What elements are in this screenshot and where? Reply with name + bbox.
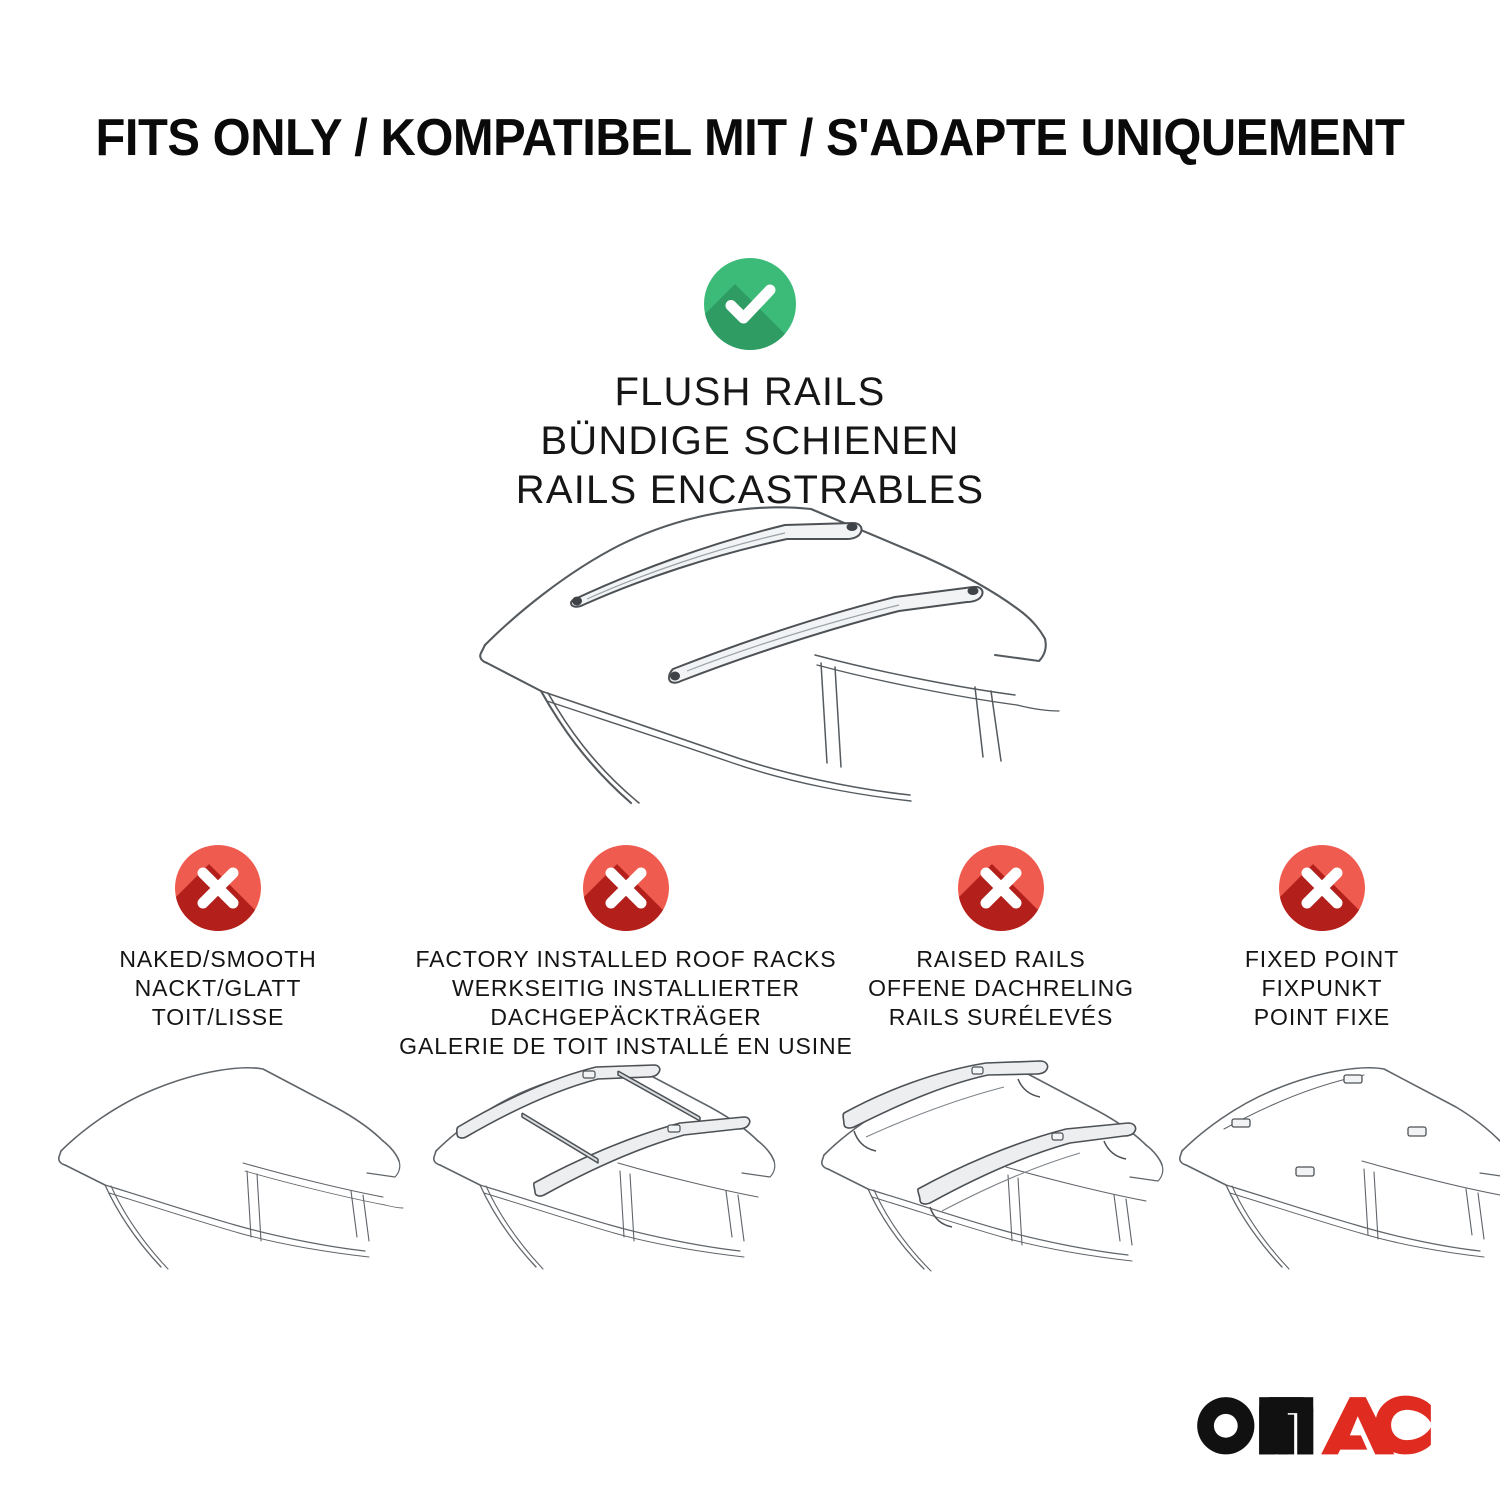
x-circle-icon xyxy=(1279,845,1365,931)
x-circle-icon xyxy=(583,845,669,931)
incompatible-label-de-line2: DACHGEPÄCKTRÄGER xyxy=(398,1003,854,1032)
incompatible-label-fr: TOIT/LISSE xyxy=(53,1003,383,1032)
incompatible-item-raised-rails: RAISED RAILS OFFENE DACHRELING RAILS SUR… xyxy=(838,845,1164,1032)
incompatible-label-group: FACTORY INSTALLED ROOF RACKS WERKSEITIG … xyxy=(398,945,854,1061)
car-roof-flush-rails-illustration xyxy=(455,495,1065,805)
incompatible-label-en: RAISED RAILS xyxy=(838,945,1164,974)
incompatible-item-factory-roof-racks: FACTORY INSTALLED ROOF RACKS WERKSEITIG … xyxy=(398,845,854,1061)
incompatible-label-group: FIXED POINT FIXPUNKT POINT FIXE xyxy=(1172,945,1472,1032)
car-roof-fixed-point-illustration xyxy=(1168,1055,1500,1290)
incompatible-label-fr: POINT FIXE xyxy=(1172,1003,1472,1032)
car-roof-factory-racks-illustration xyxy=(418,1055,786,1290)
car-roof-raised-rails-illustration xyxy=(806,1055,1174,1290)
compatible-section: FLUSH RAILS BÜNDIGE SCHIENEN RAILS ENCAS… xyxy=(250,258,1250,514)
x-circle-icon xyxy=(175,845,261,931)
incompatible-label-en: FIXED POINT xyxy=(1172,945,1472,974)
car-roof-naked-illustration xyxy=(45,1055,405,1290)
incompatible-label-de-line1: WERKSEITIG INSTALLIERTER xyxy=(398,974,854,1003)
compatible-label-en: FLUSH RAILS xyxy=(250,368,1250,417)
incompatible-label-group: NAKED/SMOOTH NACKT/GLATT TOIT/LISSE xyxy=(53,945,383,1032)
incompatible-label-de: FIXPUNKT xyxy=(1172,974,1472,1003)
compatible-labels: FLUSH RAILS BÜNDIGE SCHIENEN RAILS ENCAS… xyxy=(250,368,1250,514)
x-circle-icon xyxy=(958,845,1044,931)
incompatible-label-de: OFFENE DACHRELING xyxy=(838,974,1164,1003)
incompatible-label-en: NAKED/SMOOTH xyxy=(53,945,383,974)
incompatible-label-fr: RAILS SURÉLEVÉS xyxy=(838,1003,1164,1032)
check-circle-icon xyxy=(704,258,796,350)
incompatible-label-group: RAISED RAILS OFFENE DACHRELING RAILS SUR… xyxy=(838,945,1164,1032)
page-title: FITS ONLY / KOMPATIBEL MIT / S'ADAPTE UN… xyxy=(45,108,1455,168)
incompatible-item-fixed-point: FIXED POINT FIXPUNKT POINT FIXE xyxy=(1172,845,1472,1032)
incompatible-label-en: FACTORY INSTALLED ROOF RACKS xyxy=(398,945,854,974)
incompatible-label-de: NACKT/GLATT xyxy=(53,974,383,1003)
omac-logo xyxy=(1194,1394,1432,1456)
compatible-label-de: BÜNDIGE SCHIENEN xyxy=(250,417,1250,466)
incompatible-item-naked-smooth: NAKED/SMOOTH NACKT/GLATT TOIT/LISSE xyxy=(53,845,383,1032)
